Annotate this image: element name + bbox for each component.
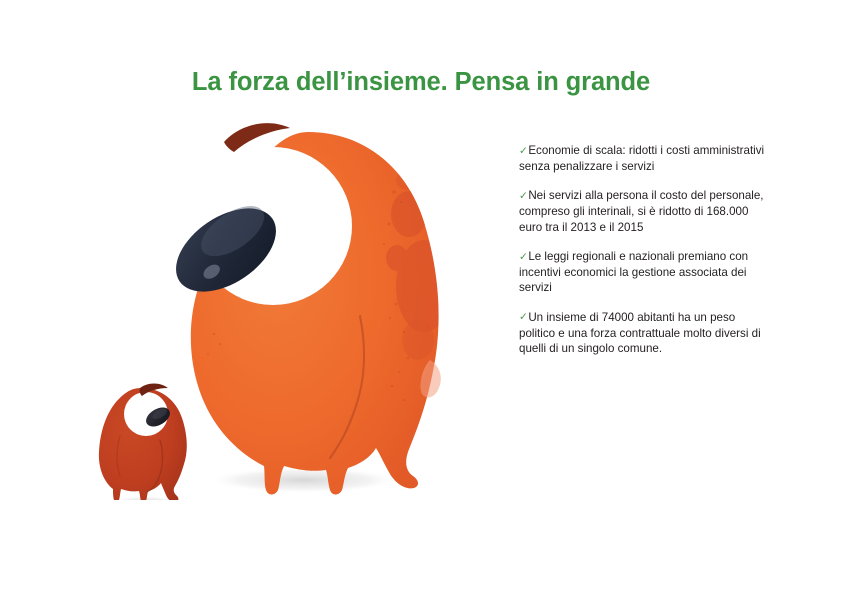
big-creature	[161, 123, 452, 494]
illustration-mascots	[80, 110, 500, 500]
bullet-text: Le leggi regionali e nazionali premiano …	[519, 250, 748, 294]
bullet-text: Un insieme di 74000 abitanti ha un peso …	[519, 311, 761, 355]
bullet-text: Nei servizi alla persona il costo del pe…	[519, 189, 764, 233]
check-icon: ✓	[519, 311, 528, 323]
bullet-item: ✓Un insieme di 74000 abitanti ha un peso…	[519, 310, 769, 357]
bullet-item: ✓Le leggi regionali e nazionali premiano…	[519, 249, 769, 296]
page-title: La forza dell’insieme. Pensa in grande	[0, 68, 842, 97]
bullet-text: Economie di scala: ridotti i costi ammin…	[519, 144, 764, 173]
bullet-item: ✓Nei servizi alla persona il costo del p…	[519, 188, 769, 235]
bullet-list: ✓Economie di scala: ridotti i costi ammi…	[519, 143, 769, 356]
check-icon: ✓	[519, 145, 528, 157]
slide-canvas: La forza dell’insieme. Pensa in grande	[0, 0, 842, 595]
bullet-item: ✓Economie di scala: ridotti i costi ammi…	[519, 143, 769, 174]
check-icon: ✓	[519, 251, 528, 263]
small-creature	[99, 384, 187, 501]
check-icon: ✓	[519, 190, 528, 202]
